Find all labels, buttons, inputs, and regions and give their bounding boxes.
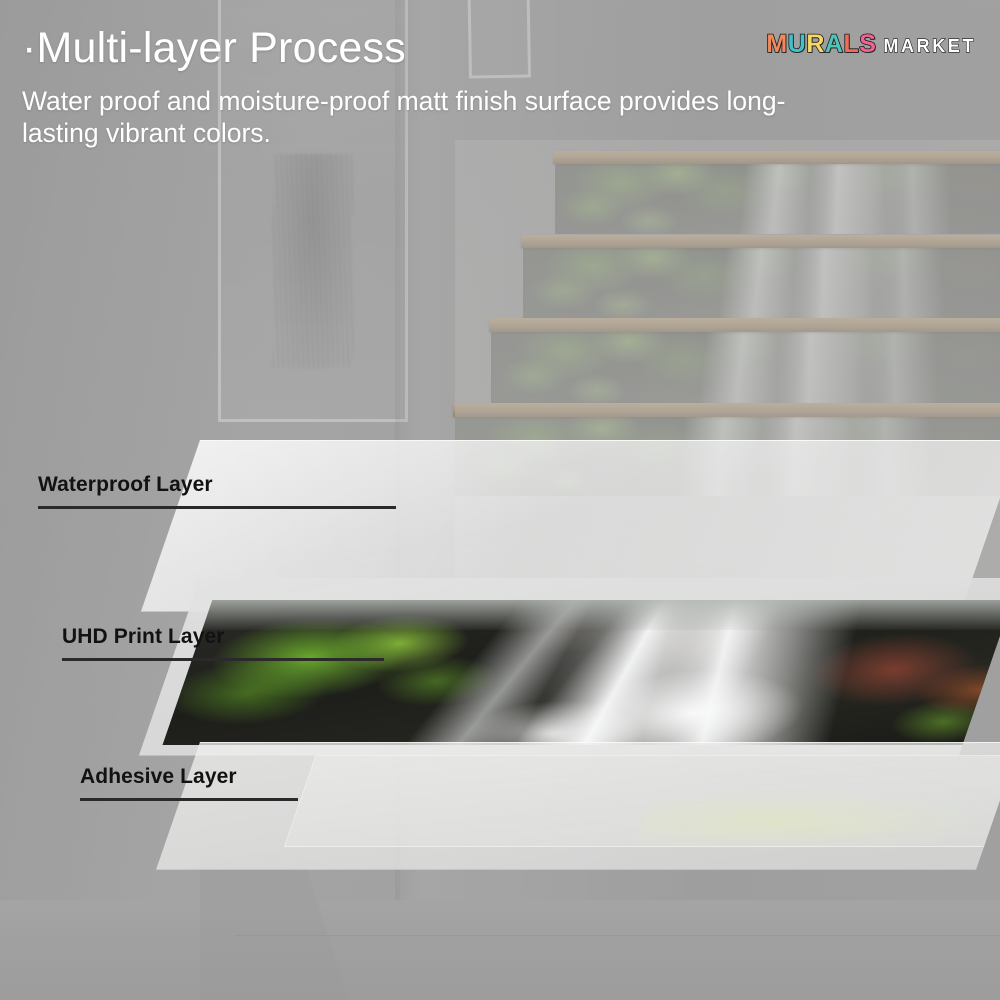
layer-label-waterproof: Waterproof Layer bbox=[38, 473, 396, 509]
logo-letter-m: M bbox=[766, 30, 787, 59]
logo-letter-r: R bbox=[806, 30, 825, 59]
brand-logo[interactable]: M U R A L S MARKET bbox=[766, 30, 976, 59]
headline-block: ·Multi-layer Process Water proof and moi… bbox=[22, 26, 882, 150]
layer-plane-adhesive bbox=[156, 742, 1000, 870]
layer-label-uhd-print: UHD Print Layer bbox=[62, 625, 384, 661]
logo-letter-u: U bbox=[788, 30, 807, 59]
slide-canvas: ·Multi-layer Process Water proof and moi… bbox=[0, 0, 1000, 1000]
brand-logo-secondary: MARKET bbox=[883, 36, 976, 57]
uhd-print-photo bbox=[162, 600, 1000, 745]
adhesive-glow bbox=[633, 792, 988, 851]
layer-label-underline bbox=[80, 798, 298, 801]
logo-letter-l: L bbox=[843, 30, 859, 59]
brand-logo-primary: M U R A L S bbox=[766, 30, 876, 59]
layer-label-underline bbox=[38, 506, 396, 509]
layer-label-adhesive: Adhesive Layer bbox=[80, 765, 298, 801]
logo-letter-s: S bbox=[859, 30, 876, 59]
layer-label-underline bbox=[62, 658, 384, 661]
logo-letter-a: A bbox=[825, 30, 844, 59]
adhesive-panel bbox=[284, 755, 1000, 847]
layer-label-text: Adhesive Layer bbox=[80, 765, 298, 789]
layer-label-text: UHD Print Layer bbox=[62, 625, 384, 649]
page-subtitle: Water proof and moisture-proof matt fini… bbox=[22, 85, 812, 150]
layer-label-text: Waterproof Layer bbox=[38, 473, 396, 497]
layer-plane-uhd-print bbox=[139, 578, 1000, 756]
page-title: ·Multi-layer Process bbox=[22, 26, 882, 71]
